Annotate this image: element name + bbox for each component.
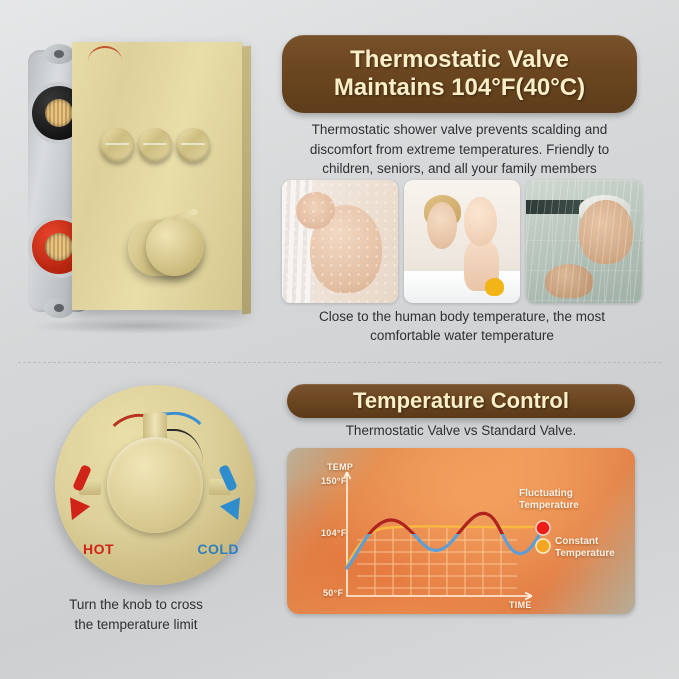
headline-line-2: Maintains 104°F(40°C) (334, 74, 585, 102)
body-copy: Thermostatic shower valve prevents scald… (282, 120, 637, 179)
temperature-chart: TEMP 150°F 104°F 50°F TIME Fluctuating T… (287, 448, 635, 614)
chart-subtitle: Thermostatic Valve vs Standard Valve. (287, 423, 635, 438)
section-divider (18, 362, 661, 363)
photo-caption-line-2: comfortable water temperature (282, 327, 642, 346)
photo-senior-man (526, 180, 642, 303)
body-line-2: discomfort from extreme temperatures. Fr… (282, 140, 637, 160)
function-button-3 (176, 128, 210, 162)
photo-caption: Close to the human body temperature, the… (282, 308, 642, 346)
mounting-ear-bottom (44, 298, 74, 318)
knob-caption-line-1: Turn the knob to cross (0, 595, 272, 615)
function-button-2 (138, 128, 172, 162)
port-thread (45, 99, 73, 127)
bottom-right-content: Temperature Control Thermostatic Valve v… (277, 375, 679, 675)
photo-strip (282, 180, 642, 303)
port-thread (45, 233, 73, 261)
knob-lever (172, 208, 199, 222)
temperature-control-banner: Temperature Control (287, 384, 635, 418)
hot-label: HOT (83, 541, 114, 557)
knob-caption: Turn the knob to cross the temperature l… (0, 595, 272, 634)
legend-constant-line-1: Constant (555, 536, 615, 548)
knob-diagram: HOT COLD Turn the knob to cross the temp… (0, 375, 272, 675)
x-axis-title: TIME (509, 600, 532, 610)
chart-grid (357, 528, 517, 596)
rubber-duck (485, 278, 504, 295)
legend-fluctuating-line-2: Temperature (519, 500, 579, 512)
legend-fluctuating: Fluctuating Temperature (519, 488, 579, 512)
falling-water (526, 180, 642, 303)
gold-faceplate (72, 42, 242, 310)
legend-fluctuating-line-1: Fluctuating (519, 488, 579, 500)
ytick-150: 150°F (321, 476, 347, 486)
legend-constant-line-2: Temperature (555, 548, 615, 560)
knob-center-dial (107, 437, 203, 533)
constant-marker (536, 539, 550, 553)
mother-face (427, 202, 457, 249)
headline-line-1: Thermostatic Valve (350, 46, 569, 74)
product-image (0, 14, 272, 344)
ytick-104: 104°F (321, 528, 347, 538)
temperature-control-title: Temperature Control (353, 388, 569, 414)
infographic-page: Thermostatic Valve Maintains 104°F(40°C)… (0, 0, 679, 679)
photo-caption-line-1: Close to the human body temperature, the… (282, 308, 642, 327)
thermostatic-knob (128, 220, 200, 276)
function-button-1 (100, 128, 134, 162)
fluctuating-temperature-line-hot (347, 513, 541, 568)
water-droplets (282, 180, 398, 303)
product-shadow (30, 318, 245, 334)
headline-banner: Thermostatic Valve Maintains 104°F(40°C) (282, 35, 637, 113)
body-line-3: children, seniors, and all your family m… (282, 159, 637, 179)
cold-label: COLD (197, 541, 239, 557)
photo-pregnant-woman (282, 180, 398, 303)
photo-mother-and-baby (404, 180, 520, 303)
top-right-content: Thermostatic Valve Maintains 104°F(40°C)… (277, 0, 679, 362)
legend-constant: Constant Temperature (555, 536, 615, 560)
knob-caption-line-2: the temperature limit (0, 615, 272, 635)
mounting-ear-top (44, 44, 74, 64)
y-axis-title: TEMP (327, 462, 353, 472)
baby-face (464, 197, 496, 246)
body-line-1: Thermostatic shower valve prevents scald… (282, 120, 637, 140)
knob-indicator-arc (88, 46, 122, 64)
fluctuating-temperature-line-cold (347, 513, 541, 568)
fluctuating-marker (536, 521, 550, 535)
ytick-50: 50°F (323, 588, 343, 598)
